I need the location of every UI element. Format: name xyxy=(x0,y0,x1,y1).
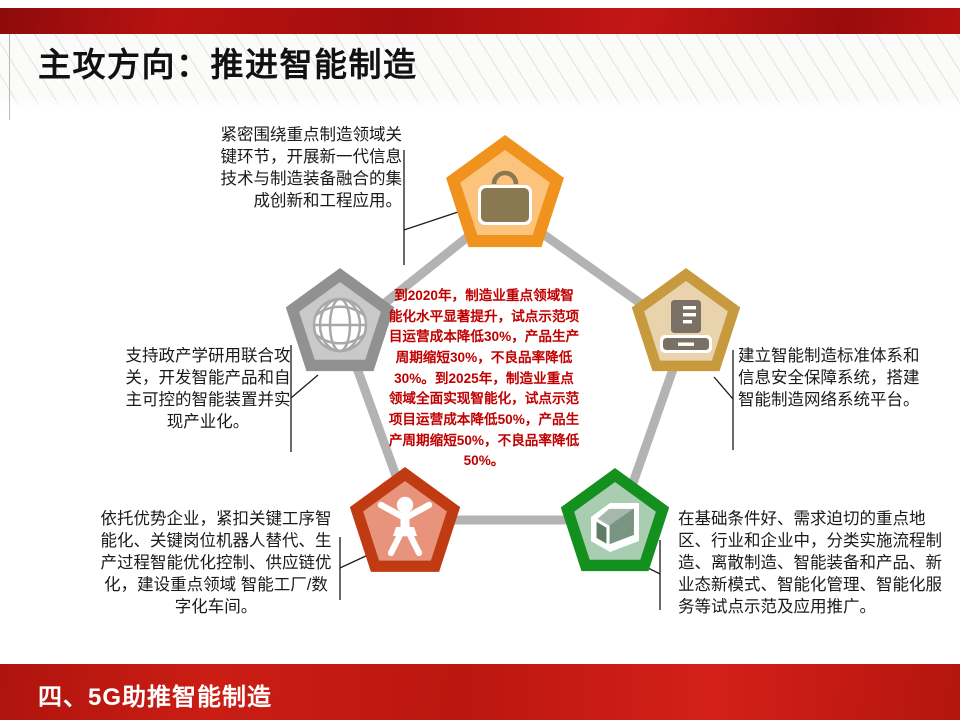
callout-left: 支持政产学研用联合攻关，开发智能产品和自主可控的智能装置并实现产业化。 xyxy=(120,345,296,433)
top-margin-strip xyxy=(0,0,960,8)
slide-canvas: 主攻方向：推进智能制造 xyxy=(0,0,960,720)
callout-top: 紧密围绕重点制造领域关键环节，开展新一代信息技术与制造装备融合的集成创新和工程应… xyxy=(216,124,402,212)
node-left-globe[interactable] xyxy=(286,268,394,371)
node-bottom-right-cube[interactable] xyxy=(561,468,669,571)
callout-right: 建立智能制造标准体系和信息安全保障系统，搭建智能制造网络系统平台。 xyxy=(738,345,928,411)
header-left-rule xyxy=(9,34,10,120)
callout-bottom-right: 在基础条件好、需求迫切的重点地区、行业和企业中，分类实施流程制造、离散制造、智能… xyxy=(678,508,950,619)
node-right-server[interactable] xyxy=(632,268,740,371)
node-bottom-left-person[interactable] xyxy=(350,467,460,572)
center-goal-text: 到2020年，制造业重点领域智能化水平显著提升，试点示范项目运营成本降低30%，… xyxy=(388,286,580,472)
footer-bar: 四、5G助推智能制造 xyxy=(0,664,960,720)
callout-bottom-left: 依托优势企业，紧扣关键工序智能化、关键岗位机器人替代、生产过程智能优化控制、供应… xyxy=(96,508,336,619)
header-accent-bar xyxy=(0,8,960,34)
node-top-briefcase[interactable] xyxy=(446,135,564,247)
footer-section-title: 四、5G助推智能制造 xyxy=(38,677,272,712)
page-title: 主攻方向：推进智能制造 xyxy=(38,38,418,86)
globe-icon xyxy=(314,299,366,351)
